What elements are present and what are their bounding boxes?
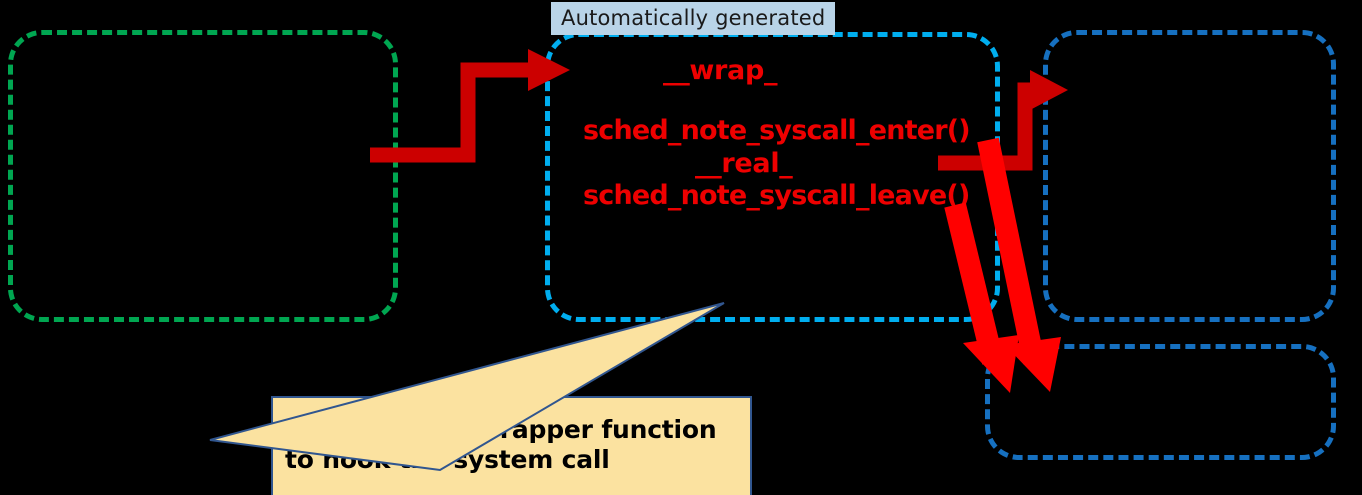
sched-note-syscall-leave-label: sched_note_syscall_leave() (583, 180, 969, 211)
wrap-symbol-label: __wrap_ (663, 55, 777, 86)
tracer-box (985, 344, 1336, 460)
automatically-generated-label: Automatically generated (551, 2, 835, 35)
application-box (8, 30, 398, 322)
kernel-box (1043, 30, 1336, 322)
callout-text: Generate the wrapper function to hook th… (285, 415, 745, 475)
call-into-wrapper-arrow (370, 49, 570, 155)
sched-note-syscall-enter-label: sched_note_syscall_enter() (583, 115, 970, 146)
real-symbol-label: __real_ (695, 148, 793, 179)
diagram-canvas: Automatically generated __wrap_ sched_no… (0, 0, 1362, 495)
